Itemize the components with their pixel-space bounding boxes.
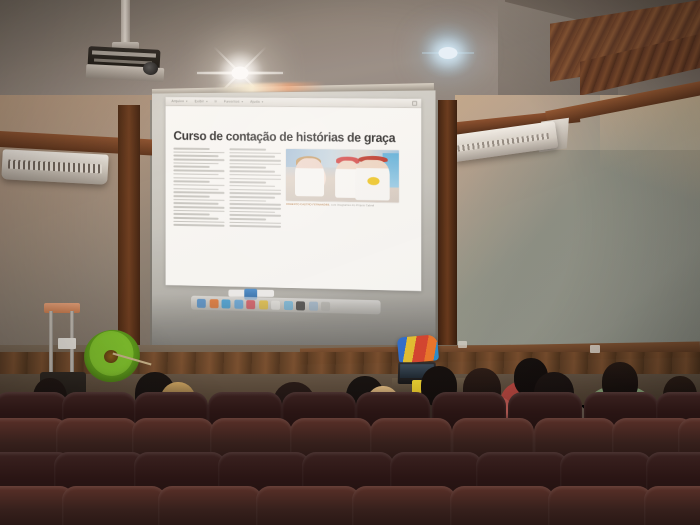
auditorium-seat (256, 486, 360, 525)
chevron-down-icon: ▾ (186, 99, 188, 103)
wood-pillar-right (438, 100, 457, 355)
photo-caption-rest: , com integrantes do Projeto Cabral (329, 203, 374, 207)
wall-socket-center (458, 341, 467, 348)
ceiling-spotlight-right (425, 30, 471, 76)
wood-pillar-left (118, 105, 140, 355)
article-headline: Curso de contação de histórias de graça (173, 129, 405, 145)
menu-item-arquivo[interactable]: Arquivo ▾ (171, 99, 187, 103)
auditorium-seat (62, 486, 166, 525)
chevron-down-icon: ▾ (206, 99, 208, 103)
suitcase-tag (58, 338, 76, 349)
projection-screen-surface: Arquivo ▾ Exibir ▾ Ir Favoritos ▾ (152, 90, 436, 348)
ac-vent-slats-right (457, 133, 549, 152)
article-column-1 (173, 148, 224, 229)
chevron-down-icon: ▾ (262, 100, 264, 104)
menu-label: Favoritos (224, 100, 240, 104)
auditorium-seat (352, 486, 456, 525)
menu-item-exibir[interactable]: Exibir ▾ (195, 99, 208, 103)
auditorium-seat (644, 486, 700, 525)
wall-right-light-glow (600, 95, 700, 215)
chevron-down-icon: ▾ (242, 100, 244, 104)
photo-caption-name: ROBERTO CASTRO FERNANDES (286, 202, 329, 206)
air-conditioner-left (1, 149, 108, 185)
colorful-display-object (397, 334, 439, 363)
article-photo-block: ROBERTO CASTRO FERNANDES, com integrante… (286, 149, 399, 232)
article-column-2 (229, 148, 281, 230)
menu-label: Ir (215, 99, 217, 103)
menu-label: Ajuda (250, 100, 260, 104)
projector-mount-pole (121, 0, 130, 45)
photo-caption: ROBERTO CASTRO FERNANDES, com integrante… (286, 202, 399, 207)
auditorium-seat (548, 486, 652, 525)
menu-item-ajuda[interactable]: Ajuda ▾ (250, 100, 263, 104)
screen-bottom-shadow (152, 294, 436, 349)
wall-socket-right (590, 345, 600, 353)
newspaper-photo (286, 149, 399, 203)
menu-label: Exibir (195, 99, 205, 103)
menu-label: Arquivo (171, 99, 184, 103)
auditorium-seat (158, 486, 262, 525)
projection-screen: Arquivo ▾ Exibir ▾ Ir Favoritos ▾ (152, 90, 436, 348)
article-body: ROBERTO CASTRO FERNANDES, com integrante… (173, 148, 413, 233)
article-page: Curso de contação de histórias de graça (166, 107, 422, 291)
window-control-button[interactable] (412, 101, 417, 106)
menu-item-favoritos[interactable]: Favoritos ▾ (224, 100, 243, 104)
auditorium-seat (450, 486, 554, 525)
ac-vent-slats-left (8, 160, 102, 174)
browser-window[interactable]: Arquivo ▾ Exibir ▾ Ir Favoritos ▾ (166, 97, 422, 291)
auditorium-photo: Arquivo ▾ Exibir ▾ Ir Favoritos ▾ (0, 0, 700, 525)
menu-item-ir[interactable]: Ir (215, 99, 217, 103)
